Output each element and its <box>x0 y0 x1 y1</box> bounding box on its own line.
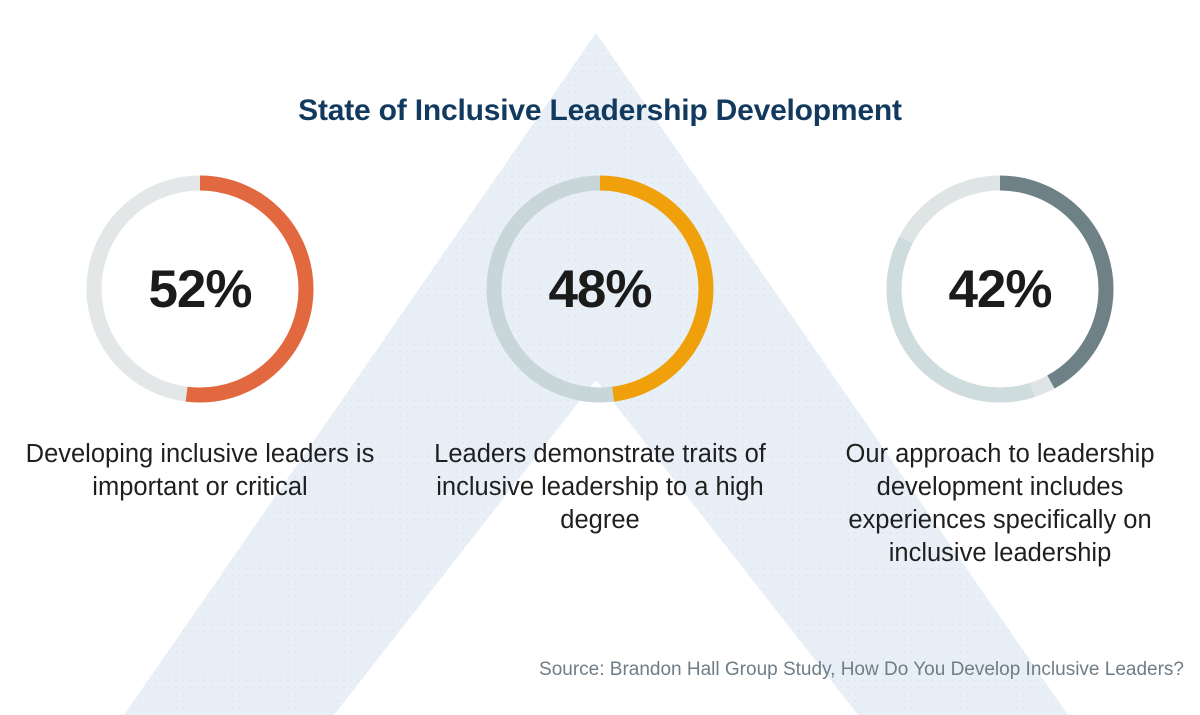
donut-chart-3: 42% <box>879 168 1121 410</box>
stat-column-2: 48% Leaders demonstrate traits of inclus… <box>400 168 800 570</box>
donut-1-caption: Developing inclusive leaders is importan… <box>14 438 386 504</box>
donut-3-caption: Our approach to leadership development i… <box>814 438 1186 570</box>
donut-2-caption: Leaders demonstrate traits of inclusive … <box>414 438 786 537</box>
donut-1-value: 52% <box>79 168 321 410</box>
stats-row: 52% Developing inclusive leaders is impo… <box>0 168 1200 570</box>
donut-2-value: 48% <box>479 168 721 410</box>
donut-chart-2: 48% <box>479 168 721 410</box>
infographic-canvas: State of Inclusive Leadership Developmen… <box>0 0 1200 715</box>
stat-column-3: 42% Our approach to leadership developme… <box>800 168 1200 570</box>
stat-column-1: 52% Developing inclusive leaders is impo… <box>0 168 400 570</box>
source-attribution: Source: Brandon Hall Group Study, How Do… <box>539 659 1184 681</box>
donut-chart-1: 52% <box>79 168 321 410</box>
donut-3-value: 42% <box>879 168 1121 410</box>
page-title: State of Inclusive Leadership Developmen… <box>0 94 1200 128</box>
